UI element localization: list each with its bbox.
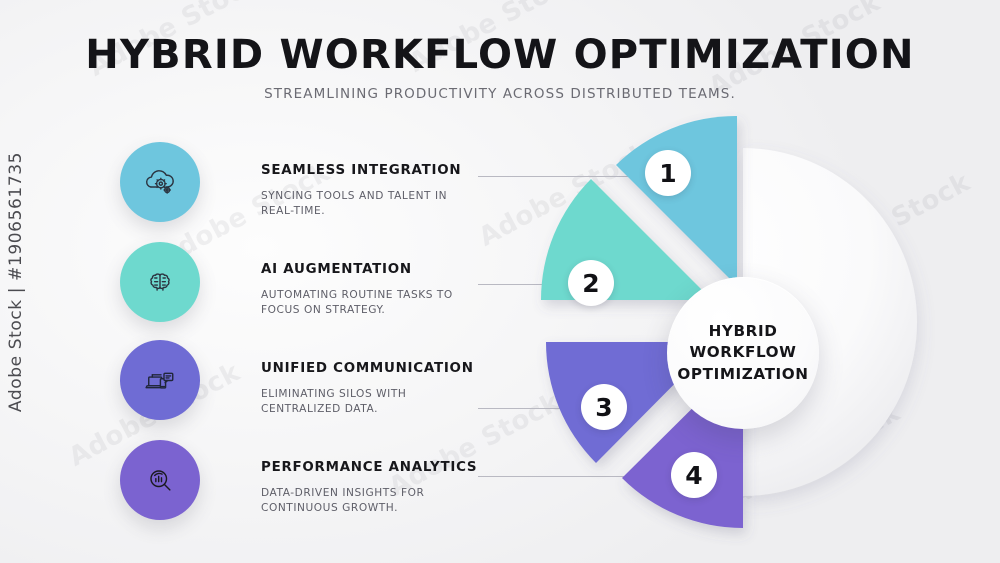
center-hub-label: HYBRID WORKFLOW OPTIMIZATION xyxy=(677,321,808,386)
chart-magnifier-icon xyxy=(140,460,180,500)
icon-circle-ai-augmentation[interactable] xyxy=(120,242,200,322)
icon-circle-seamless-integration[interactable] xyxy=(120,142,200,222)
step-heading: SEAMLESS INTEGRATION xyxy=(261,163,476,178)
step-text-ai-augmentation: AI AUGMENTATION AUTOMATING ROUTINE TASKS… xyxy=(261,262,476,318)
step-text-performance-analytics: PERFORMANCE ANALYTICS DATA-DRIVEN INSIGH… xyxy=(261,460,476,516)
stock-watermark-label: Adobe Stock | #1906561735 xyxy=(6,151,26,411)
icon-circle-unified-communication[interactable] xyxy=(120,340,200,420)
step-badge-2[interactable]: 2 xyxy=(568,260,614,306)
step-heading: UNIFIED COMMUNICATION xyxy=(261,361,476,376)
step-body: SYNCING TOOLS AND TALENT IN REAL-TIME. xyxy=(261,189,476,219)
devices-chat-icon xyxy=(140,360,180,400)
cloud-gear-icon xyxy=(140,162,180,202)
brain-icon xyxy=(140,262,180,302)
step-body: DATA-DRIVEN INSIGHTS FOR CONTINUOUS GROW… xyxy=(261,486,476,516)
step-body: AUTOMATING ROUTINE TASKS TO FOCUS ON STR… xyxy=(261,288,476,318)
center-hub: HYBRID WORKFLOW OPTIMIZATION xyxy=(667,277,819,429)
step-badge-1[interactable]: 1 xyxy=(645,150,691,196)
step-badge-4[interactable]: 4 xyxy=(671,452,717,498)
step-text-unified-communication: UNIFIED COMMUNICATION ELIMINATING SILOS … xyxy=(261,361,476,417)
step-text-seamless-integration: SEAMLESS INTEGRATION SYNCING TOOLS AND T… xyxy=(261,163,476,219)
page-title: HYBRID WORKFLOW OPTIMIZATION xyxy=(0,34,1000,77)
step-badge-3[interactable]: 3 xyxy=(581,384,627,430)
step-body: ELIMINATING SILOS WITH CENTRALIZED DATA. xyxy=(261,387,476,417)
step-heading: PERFORMANCE ANALYTICS xyxy=(261,460,476,475)
infographic-canvas: Adobe Stock Adobe Stock Adobe Stock Adob… xyxy=(0,0,1000,563)
step-heading: AI AUGMENTATION xyxy=(261,262,476,277)
icon-circle-performance-analytics[interactable] xyxy=(120,440,200,520)
